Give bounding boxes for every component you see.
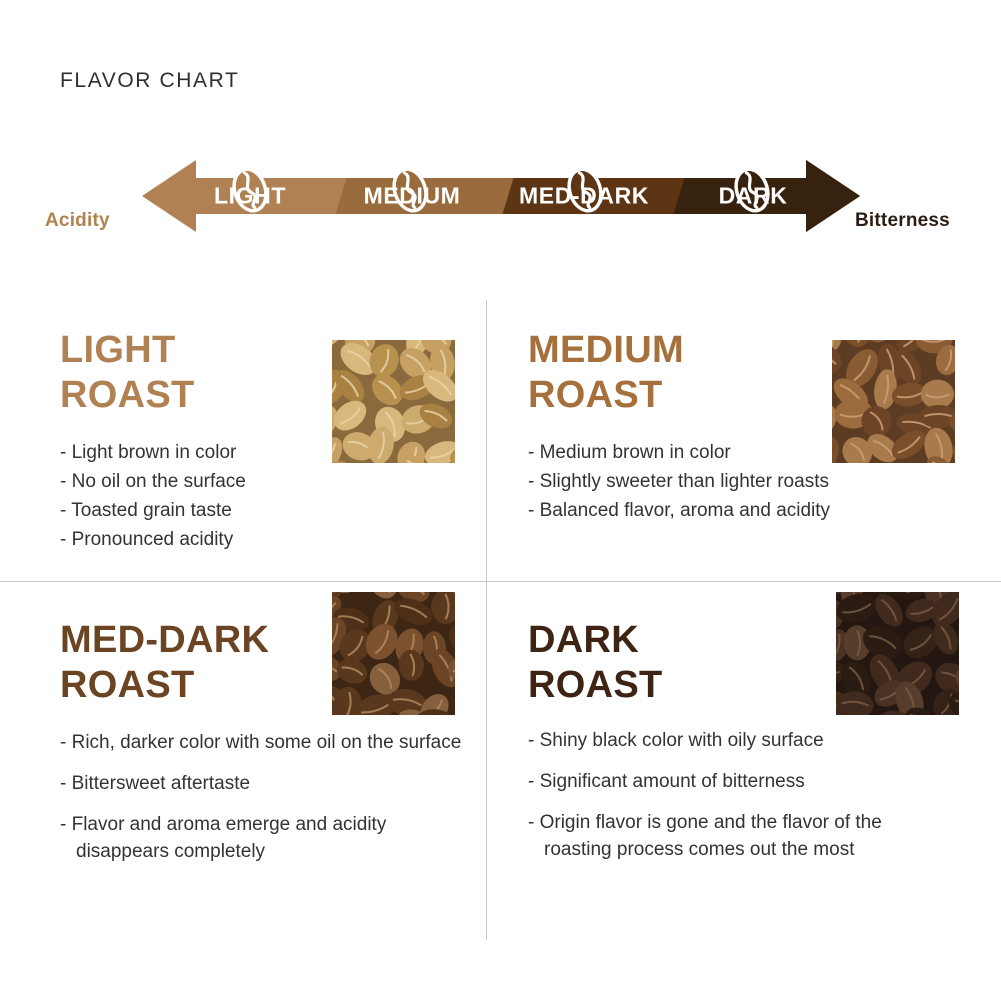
roast-scale-band: Acidity Bitterness LIGHT MEDIUM MED-DARK… [0,160,1001,275]
heading-light-roast: LIGHT ROAST [60,328,530,418]
roast-scale-graphic [0,160,1001,275]
quadrant-light-roast: LIGHT ROAST - Light brown in color- No o… [60,328,530,556]
list-item: - Shiny black color with oily surface [528,728,944,755]
list-item: - Rich, darker color with some oil on th… [60,730,476,757]
scale-label-medium: MEDIUM [364,183,461,210]
bullet-list-med-dark-roast: - Rich, darker color with some oil on th… [60,730,530,866]
list-item: - No oil on the surface [60,469,476,496]
roast-quadrant-grid: LIGHT ROAST - Light brown in color- No o… [0,300,1001,940]
scale-label-med-dark: MED-DARK [519,183,649,210]
scale-label-dark: DARK [719,183,788,210]
list-item: - Significant amount of bitterness [528,769,944,796]
scale-segments [0,160,1001,232]
acidity-axis-label: Acidity [45,210,110,232]
bullet-list-medium-roast: - Medium brown in color- Slightly sweete… [528,440,998,525]
list-item: - Bittersweet aftertaste [60,771,476,798]
list-item: - Origin flavor is gone and the flavor o… [528,810,944,864]
list-item: - Balanced flavor, aroma and acidity [528,498,944,525]
list-item: - Flavor and aroma emerge and acidity di… [60,812,476,866]
bitterness-axis-label: Bitterness [855,210,950,232]
bullet-list-light-roast: - Light brown in color- No oil on the su… [60,440,530,554]
list-item: - Toasted grain taste [60,498,476,525]
heading-dark-roast: DARK ROAST [528,618,998,708]
page-title: FLAVOR CHART [60,69,239,93]
list-item: - Pronounced acidity [60,527,476,554]
bullet-list-dark-roast: - Shiny black color with oily surface- S… [528,728,998,864]
list-item: - Slightly sweeter than lighter roasts [528,469,944,496]
quadrant-dark-roast: DARK ROAST - Shiny black color with oily… [528,618,998,878]
quadrant-med-dark-roast: MED-DARK ROAST - Rich, darker color with… [60,618,530,880]
list-item: - Light brown in color [60,440,476,467]
heading-medium-roast: MEDIUM ROAST [528,328,998,418]
heading-med-dark-roast: MED-DARK ROAST [60,618,530,708]
scale-label-light: LIGHT [214,183,286,210]
divider-horizontal [0,581,1001,582]
list-item: - Medium brown in color [528,440,944,467]
